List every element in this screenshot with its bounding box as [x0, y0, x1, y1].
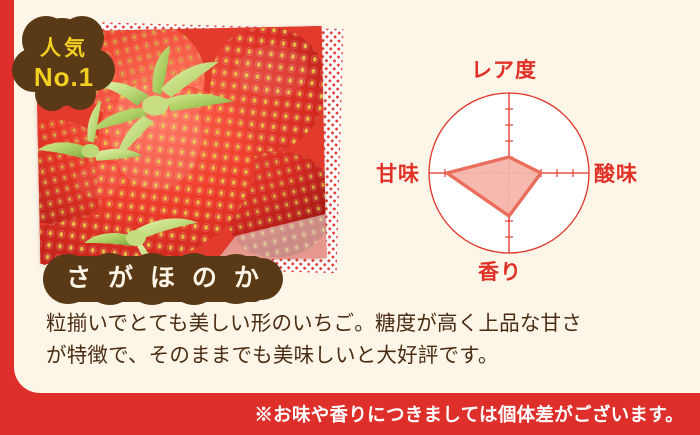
description-line-2: が特徴で、そのままでも美味しいと大好評です。 [46, 340, 656, 372]
description-line-1: 粒揃いでとても美しい形のいちご。糖度が高く上品な甘さ [46, 308, 656, 340]
disclaimer-bar: ※お味や香りにつきましては個体差がございます。 [0, 393, 700, 435]
badge-line2: No.1 [12, 64, 116, 90]
product-name-banner: さ が ほ の か [40, 252, 290, 306]
promo-card: 人気 No.1 さ が ほ の か [0, 0, 700, 435]
popularity-badge: 人気 No.1 [12, 14, 116, 112]
badge-line1: 人気 [12, 38, 116, 59]
radar-label-rarity: レア度 [471, 54, 537, 84]
radar-label-sweetness: 甘味 [376, 158, 420, 188]
disclaimer-text: ※お味や香りにつきましては個体差がございます。 [254, 401, 684, 427]
radar-label-acidity: 酸味 [594, 158, 638, 188]
product-description: 粒揃いでとても美しい形のいちご。糖度が高く上品な甘さ が特徴で、そのままでも美味… [46, 308, 656, 372]
product-name: さ が ほ の か [40, 263, 290, 293]
radar-label-aroma: 香り [478, 256, 522, 286]
taste-radar-chart: レア度 酸味 香り 甘味 [366, 40, 686, 290]
